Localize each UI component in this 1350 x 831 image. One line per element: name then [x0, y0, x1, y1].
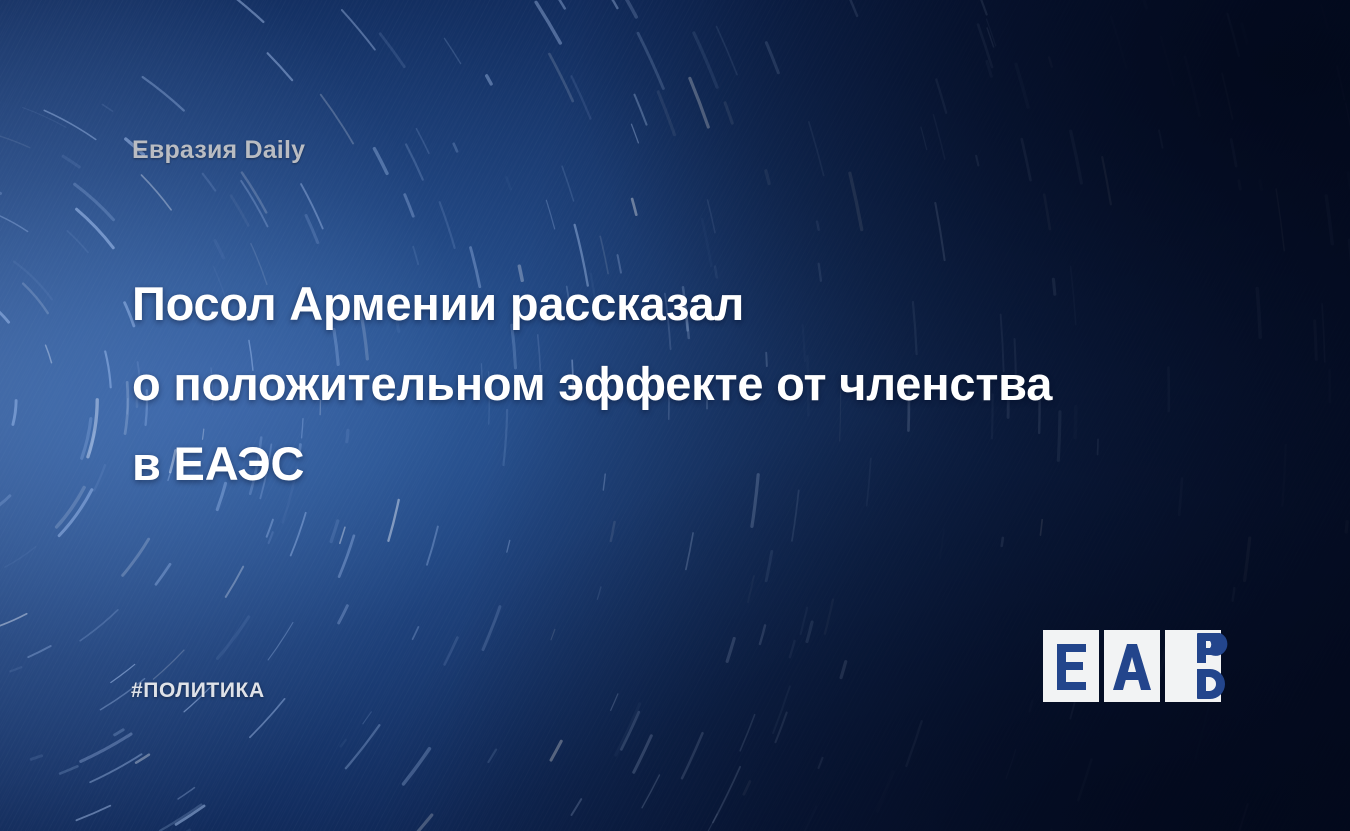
logo-letter-e	[1043, 630, 1099, 702]
eadaily-logo[interactable]	[1043, 630, 1221, 702]
headline-line-2: о положительном эффекте от членства	[132, 344, 1207, 424]
news-card: Евразия Daily Посол Армении рассказал о …	[0, 0, 1350, 831]
headline: Посол Армении рассказал о положительном …	[132, 264, 1207, 504]
brand-name: Евразия Daily	[132, 136, 305, 165]
headline-line-3: в ЕАЭС	[132, 424, 1207, 504]
headline-line-1: Посол Армении рассказал	[132, 264, 1207, 344]
logo-mark-d	[1165, 630, 1221, 702]
category-hashtag[interactable]: #ПОЛИТИКА	[131, 679, 265, 703]
logo-letter-a	[1104, 630, 1160, 702]
